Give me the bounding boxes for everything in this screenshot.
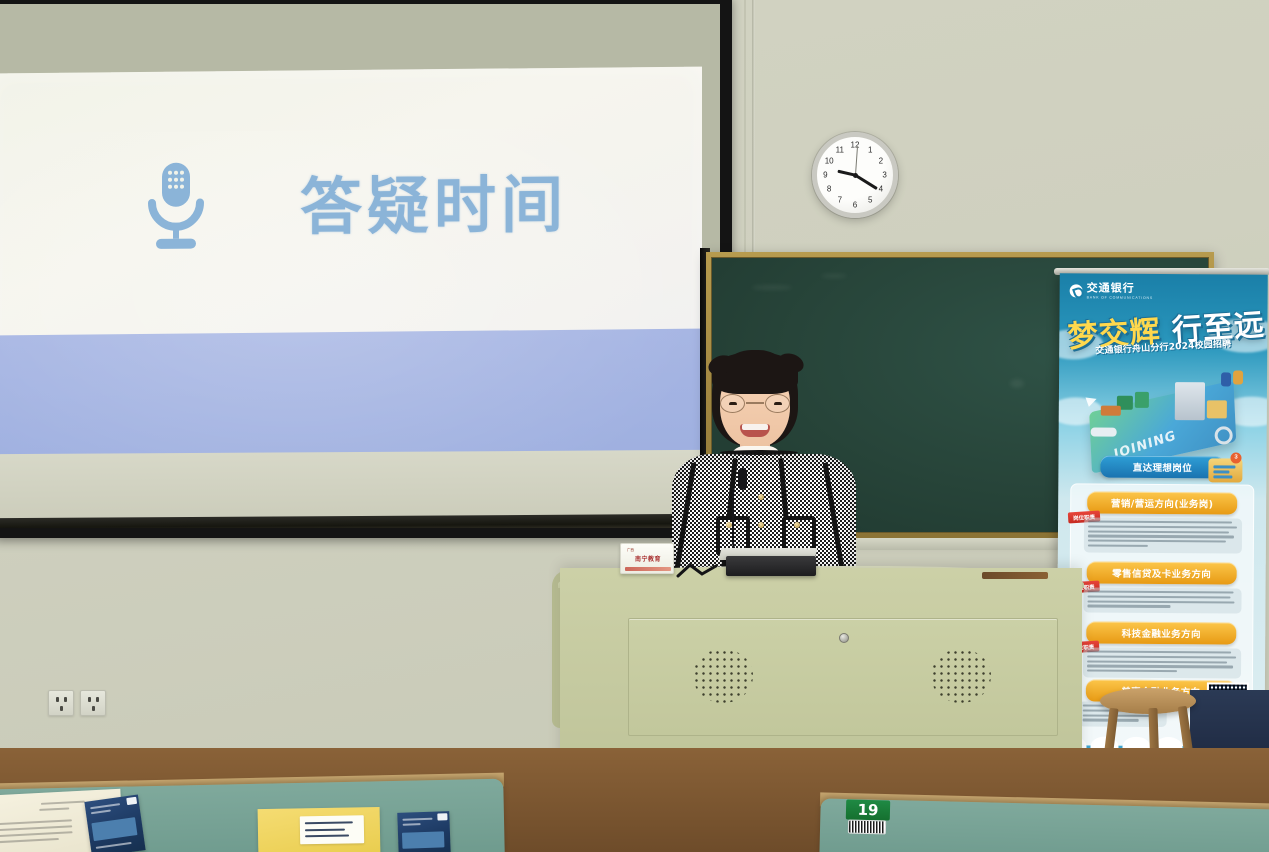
slide-content: 答疑时间: [144, 157, 568, 257]
iso-ferris-wheel: [1215, 426, 1233, 444]
wall-clock: 12 1 2 3 4 5 6 7 8 9 10 11: [812, 132, 898, 218]
pocket-button: [794, 522, 800, 528]
eyeglasses: [720, 394, 790, 414]
speaker-grille-left: [693, 649, 753, 703]
brochure-corner-mark: [126, 797, 137, 805]
podium-front-panel: [628, 618, 1058, 736]
clock-numeral: 4: [879, 185, 883, 194]
chalk-smudge: [752, 285, 792, 290]
nameplate-stripe: [625, 567, 671, 571]
nameplate-small-text: 广西: [627, 548, 634, 553]
clock-numeral: 1: [868, 145, 872, 154]
clock-numeral: 6: [853, 200, 857, 209]
iso-boat: [1091, 427, 1117, 436]
poster-section-heading: 营销/营运方向(业务岗): [1087, 491, 1237, 514]
projection-screen-frame: 答疑时间: [0, 0, 732, 538]
section-body-text: [1084, 517, 1242, 553]
eye: [774, 402, 782, 405]
clock-numeral: 5: [868, 196, 872, 205]
desk-barcode-sticker: [848, 820, 886, 835]
classroom-scene: 答疑时间 12 1 2 3 4 5 6 7 8 9 10 11: [0, 0, 1269, 852]
section-body-text: [1083, 647, 1241, 678]
clock-numeral: 11: [836, 145, 844, 154]
wooden-pointer: [982, 572, 1048, 579]
badge-count: 3: [1230, 452, 1241, 463]
iso-block: [1207, 400, 1227, 418]
boc-logo-mark: [1070, 284, 1083, 297]
wall-outlet-left[interactable]: [48, 690, 74, 716]
eyeglass-bridge: [746, 402, 764, 404]
slide-title: 答疑时间: [300, 174, 568, 239]
yellow-folder: [258, 807, 381, 852]
iso-tree: [1135, 392, 1149, 408]
paper-plane-icon: [1086, 394, 1099, 407]
recruitment-brochure: [397, 811, 451, 852]
iso-person: [1233, 370, 1243, 384]
clock-center-pin: [853, 173, 858, 178]
iso-person: [1221, 372, 1231, 386]
mouth: [740, 424, 770, 437]
wall-seam: [752, 0, 755, 270]
recruitment-brochure: [84, 795, 145, 852]
clock-numeral: 10: [825, 156, 834, 165]
speaker-grille-right: [931, 649, 991, 703]
eyeglass-lens-right: [765, 394, 790, 413]
screen-lower-wall: [0, 450, 720, 525]
jacket-button: [758, 494, 764, 500]
chalk-smudge: [1010, 379, 1024, 388]
boc-logo: 交通银行 BANK OF COMMUNICATIONS: [1070, 282, 1153, 300]
clock-numeral: 7: [838, 196, 842, 205]
clock-minute-hand: [854, 174, 877, 190]
microphone-icon: [144, 160, 208, 257]
desk-microphone-base: [676, 562, 722, 578]
jacket-button: [758, 522, 764, 528]
nameplate-box: 广西 南宁教育: [620, 543, 674, 574]
iso-building: [1175, 382, 1205, 420]
control-console[interactable]: [726, 556, 816, 576]
desk-number-tag: 19: [846, 799, 890, 820]
chalk-smudge: [821, 274, 847, 278]
iso-roof: [1101, 406, 1121, 416]
clock-numeral: 12: [851, 141, 860, 150]
cta-pill[interactable]: 直达理想岗位: [1100, 456, 1224, 479]
slide-bottom-band: [0, 329, 708, 464]
presentation-slide: [0, 67, 702, 464]
clock-face: 12 1 2 3 4 5 6 7 8 9 10 11: [817, 137, 893, 213]
boc-brand-en: BANK OF COMMUNICATIONS: [1087, 295, 1153, 299]
projection-screen-surface: 答疑时间: [0, 4, 720, 528]
clock-numeral: 8: [827, 185, 831, 194]
eye: [729, 402, 737, 405]
teeth: [742, 424, 768, 430]
eyeglass-lens-left: [720, 394, 745, 413]
lapel-microphone: [738, 468, 747, 490]
poster-section-heading: 科技金融业务方向: [1086, 621, 1236, 644]
boc-brand-cn: 交通银行: [1087, 282, 1153, 293]
nameplate-main-text: 南宁教育: [635, 554, 661, 563]
folder-label: [300, 815, 364, 844]
poster-section-heading: 零售信贷及卡业务方向: [1087, 561, 1237, 584]
wall-outlet-right[interactable]: [80, 690, 106, 716]
clock-numeral: 9: [823, 171, 827, 180]
podium-lock: [839, 633, 849, 643]
clock-numeral: 2: [879, 156, 883, 165]
brochure-corner-mark: [437, 813, 447, 820]
jacket-collar-trim: [720, 450, 798, 455]
clock-second-hand: [855, 146, 858, 175]
wall-seam-secondary: [744, 0, 746, 270]
clock-numeral: 3: [882, 171, 886, 180]
section-body-text: [1083, 587, 1241, 613]
